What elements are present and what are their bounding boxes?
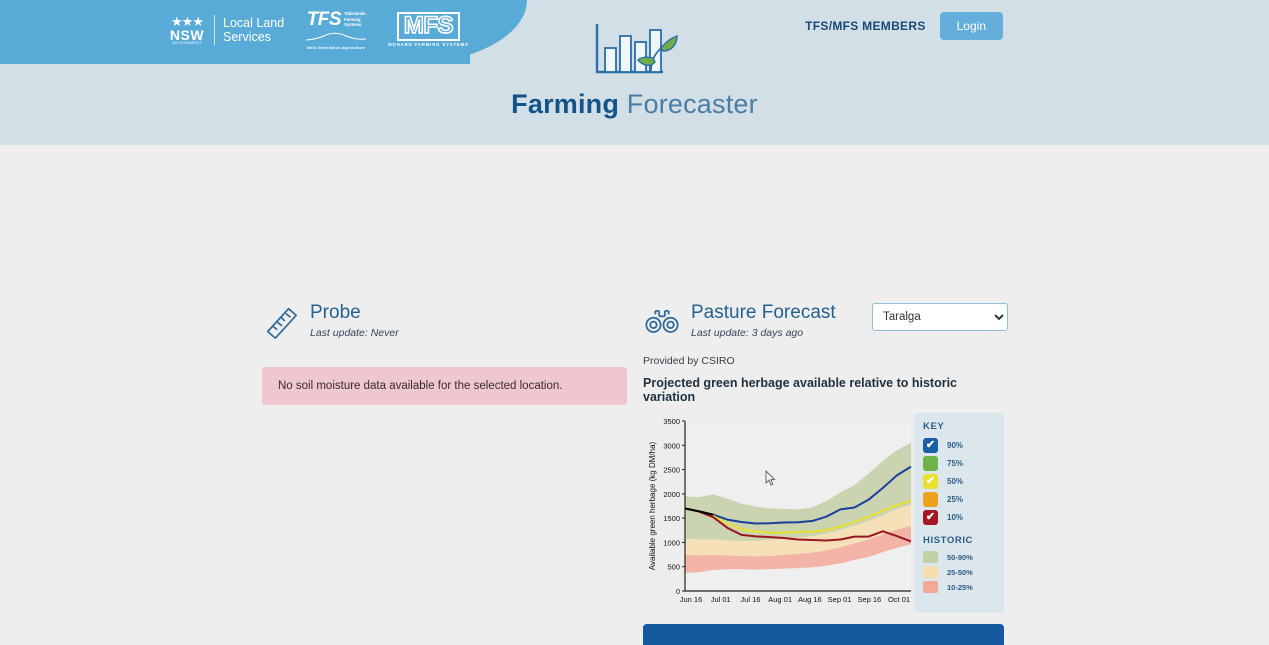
tfs-hill-icon [306,32,366,41]
key-label-90: 90% [947,441,963,450]
pasture-title: Pasture Forecast [691,303,836,324]
historic-row-10-25%: 10-25% [923,581,995,593]
partner-logos: ★★★ NSW GOVERNMENT Local Land Services T… [168,10,469,50]
historic-swatch-10-25% [923,581,938,593]
key-item-list: ✔90%75%✔50%25%✔10% [923,438,995,525]
key-row-10[interactable]: ✔10% [923,510,995,525]
x-tick-label: Sep 01 [828,595,852,604]
key-label-10: 10% [947,513,963,522]
historic-heading: HISTORIC [923,535,995,546]
tfs-tagline: Next Generation Agriculture [306,46,366,50]
tfs-subtitle: Tablelands Farming Systems [344,11,366,28]
mfs-tagline: MONARO FARMING SYSTEMS [388,43,469,47]
chart-title: Projected green herbage available relati… [643,376,1008,404]
probe-last-update: Last update: Never [310,327,399,339]
y-tick-label: 1500 [663,514,680,523]
key-label-25: 25% [947,495,963,504]
nsw-agency-line2: Services [223,30,284,44]
historic-label-10-25%: 10-25% [947,583,973,592]
nsw-mark: ★★★ NSW GOVERNMENT [168,15,206,46]
nsw-abbr: NSW [168,28,206,42]
y-axis-label: Available green herbage (kg DM/ha) [648,441,657,570]
nsw-agency-line1: Local Land [223,16,284,30]
tfs-abbr: TFS [307,10,341,29]
members-label: TFS/MFS MEMBERS [805,19,926,33]
logo-divider [214,15,215,45]
pasture-header-text: Pasture Forecast Last update: 3 days ago [691,303,836,339]
historic-row-25-50%: 25-50% [923,566,995,578]
key-row-25[interactable]: 25% [923,492,995,507]
key-row-50[interactable]: ✔50% [923,474,995,489]
mfs-abbr: MFS [397,12,460,41]
brand-title-light: Forecaster [627,89,758,119]
y-tick-label: 3500 [663,417,680,426]
nsw-agency-name: Local Land Services [223,16,284,45]
historic-swatch-50-90% [923,551,938,563]
historic-swatch-25-50% [923,566,938,578]
ruler-probe-icon [262,303,300,341]
current-growth-banner: Current Growth (modelled) 0kg/ha/day [643,624,1004,645]
tfs-sub-line1: Tablelands [344,11,366,17]
x-tick-label: Jul 16 [740,595,760,604]
page-header: ★★★ NSW GOVERNMENT Local Land Services T… [0,0,1269,145]
key-checkbox-50[interactable]: ✔ [923,474,938,489]
tfs-sub-line3: Systems [344,22,366,28]
bar-chart-plant-icon [591,22,679,80]
chart-key: KEY ✔90%75%✔50%25%✔10% HISTORIC 50-90%25… [914,413,1004,613]
location-select[interactable]: Taralga [872,303,1008,331]
y-tick-label: 2500 [663,466,680,475]
key-checkbox-25[interactable] [923,492,938,507]
x-tick-label: Aug 16 [798,595,822,604]
y-tick-label: 3000 [663,441,680,450]
y-tick-label: 500 [667,563,680,572]
x-tick-label: Sep 16 [857,595,881,604]
historic-row-50-90%: 50-90% [923,551,995,563]
probe-panel: Probe Last update: Never No soil moistur… [262,303,627,405]
mfs-logo: MFS MONARO FARMING SYSTEMS [388,12,469,47]
x-tick-label: Aug 01 [768,595,792,604]
key-checkbox-90[interactable]: ✔ [923,438,938,453]
pasture-last-update: Last update: 3 days ago [691,327,836,339]
key-checkbox-75[interactable] [923,456,938,471]
binoculars-icon [643,303,681,341]
x-tick-label: Oct 01 [888,595,910,604]
nsw-local-land-services-logo: ★★★ NSW GOVERNMENT Local Land Services [168,15,284,46]
key-label-75: 75% [947,459,963,468]
pasture-header-row: Pasture Forecast Last update: 3 days ago… [643,303,1008,341]
nsw-waratah-icon: ★★★ [168,15,206,28]
provided-by-label: Provided by CSIRO [643,355,1008,367]
tfs-logo-row: TFS Tablelands Farming Systems [306,10,366,29]
brand-title-bold: Farming [511,89,619,119]
historic-label-50-90%: 50-90% [947,553,973,562]
key-row-75[interactable]: 75% [923,456,995,471]
key-heading: KEY [923,421,995,432]
pasture-chart: 0500100015002000250030003500Available gr… [643,413,1004,613]
page-title: Farming Forecaster [0,89,1269,120]
key-checkbox-10[interactable]: ✔ [923,510,938,525]
probe-no-data-alert: No soil moisture data available for the … [262,367,627,405]
y-tick-label: 1000 [663,538,680,547]
probe-header-text: Probe Last update: Never [310,303,399,339]
tfs-logo: TFS Tablelands Farming Systems Next Gene… [306,10,366,50]
login-button[interactable]: Login [940,12,1003,40]
x-tick-label: Jul 01 [711,595,731,604]
historic-label-25-50%: 25-50% [947,568,973,577]
key-row-90[interactable]: ✔90% [923,438,995,453]
probe-title: Probe [310,303,399,324]
historic-item-list: 50-90%25-50%10-25% [923,551,995,593]
probe-header: Probe Last update: Never [262,303,627,341]
key-label-50: 50% [947,477,963,486]
y-tick-label: 2000 [663,490,680,499]
members-area: TFS/MFS MEMBERS Login [805,12,1003,40]
main-content: Probe Last update: Never No soil moistur… [0,145,1269,645]
nsw-government-label: GOVERNMENT [168,42,206,46]
pasture-header: Pasture Forecast Last update: 3 days ago [643,303,836,341]
pasture-panel: Pasture Forecast Last update: 3 days ago… [643,303,1008,645]
x-tick-label: Jun 16 [680,595,703,604]
